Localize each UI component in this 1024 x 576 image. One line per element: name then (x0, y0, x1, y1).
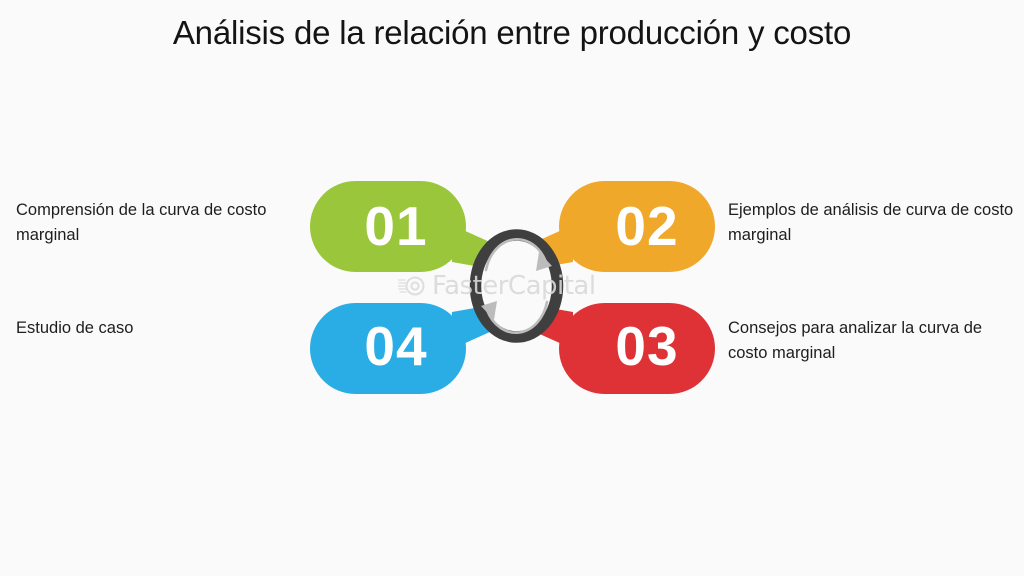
step-pill-04[interactable] (310, 303, 466, 394)
step-pill-01[interactable] (310, 181, 466, 272)
step-label-01: Comprensión de la curva de costo margina… (16, 198, 306, 248)
step-label-04: Estudio de caso (16, 316, 306, 341)
step-pill-03[interactable] (559, 303, 715, 394)
center-ring (476, 235, 558, 337)
step-pill-02[interactable] (559, 181, 715, 272)
step-label-03: Consejos para analizar la curva de costo… (728, 316, 1020, 366)
four-step-cycle-diagram (0, 0, 1024, 576)
infographic-slide: Análisis de la relación entre producción… (0, 0, 1024, 576)
step-label-02: Ejemplos de análisis de curva de costo m… (728, 198, 1020, 248)
